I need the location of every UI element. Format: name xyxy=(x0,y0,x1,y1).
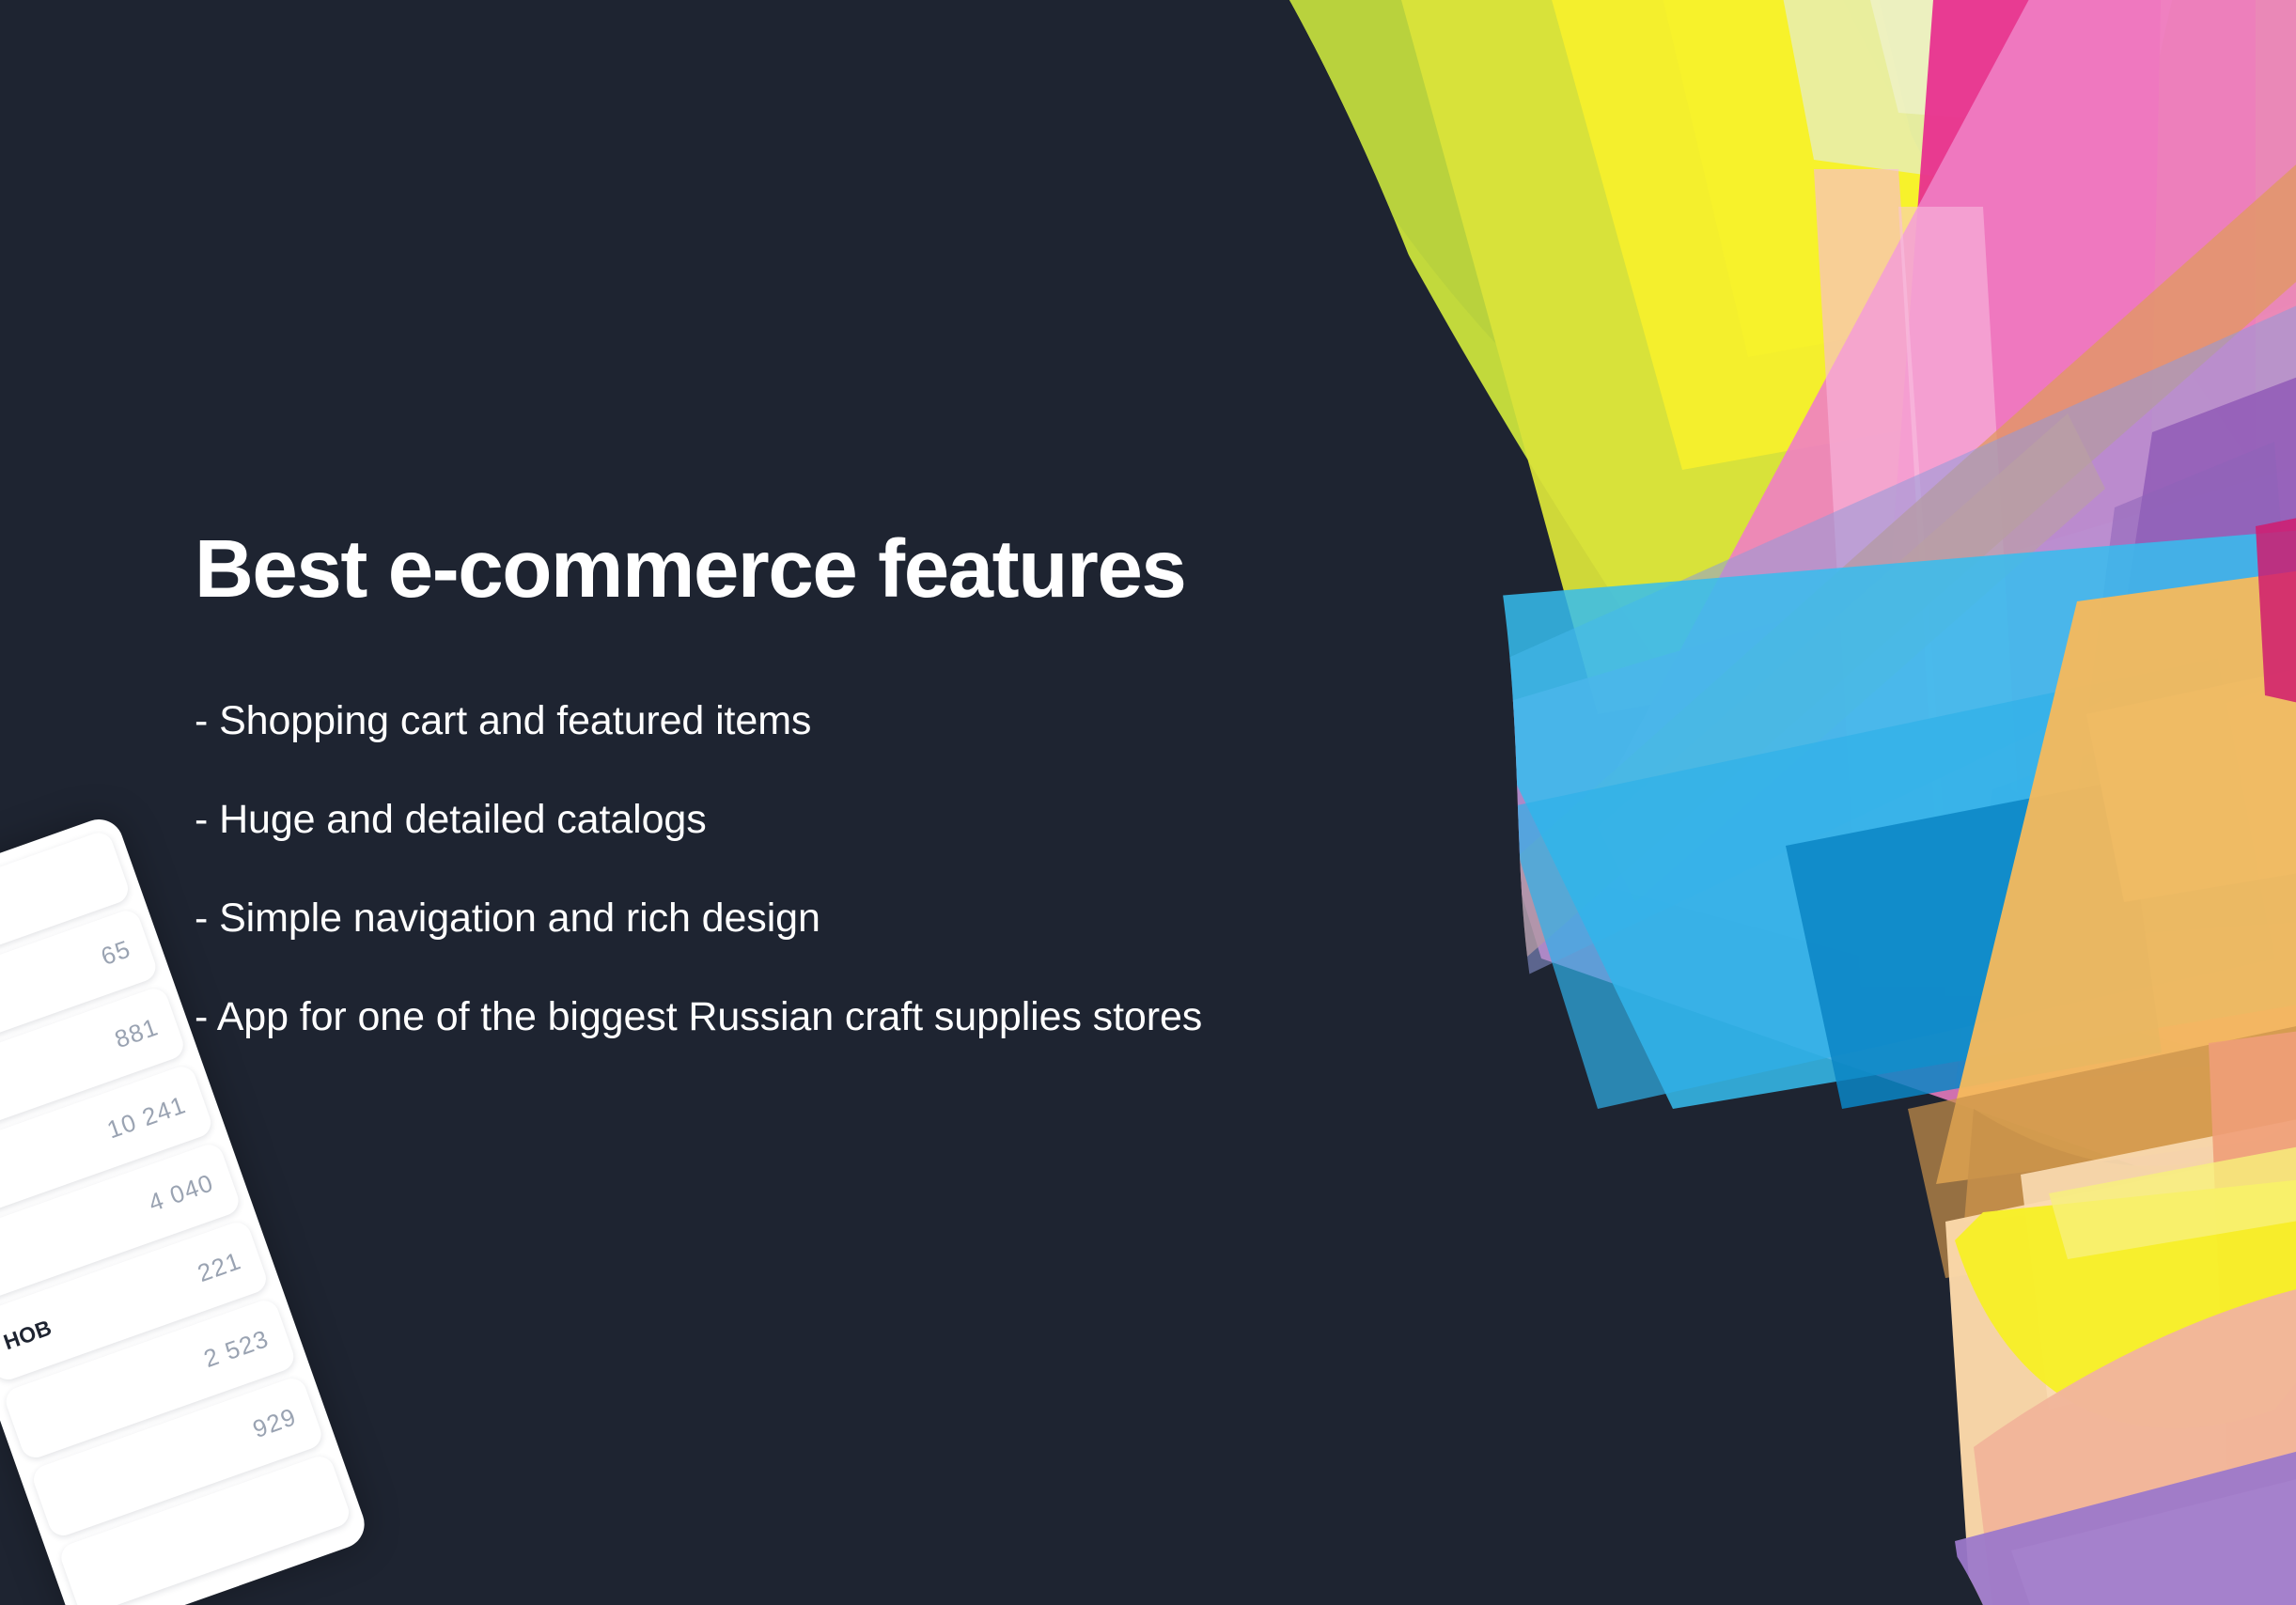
list-item-tag: НОВ xyxy=(0,1315,55,1355)
shape-yellow-wedge xyxy=(1541,0,2049,470)
shape-yellowgreen-band xyxy=(1391,0,2296,714)
slide-root: 65 881 10 241 4 040 НОВ 221 2 523 929 xyxy=(0,0,2296,1605)
shape-yellow-bottom-hi xyxy=(2049,1137,2296,1259)
shape-violet-band xyxy=(1955,658,2296,1090)
list-item-number: 2 523 xyxy=(200,1324,273,1374)
shape-periwinkle-band xyxy=(1466,282,2296,977)
shape-deepblue xyxy=(1786,780,2162,1109)
shape-yellow-wedge-2 xyxy=(1654,0,1955,357)
shape-magenta-accent xyxy=(2256,507,2296,714)
shape-purple-wedge-2 xyxy=(2058,442,2296,940)
list-item-number: 4 040 xyxy=(145,1168,217,1218)
bullet-item-3: - Simple navigation and rich design xyxy=(195,892,1322,945)
shape-magenta-core xyxy=(1880,0,2162,827)
shape-lime-arc xyxy=(1241,0,2296,526)
artwork-shapes xyxy=(1241,0,2296,1605)
shape-yellow-bottom xyxy=(1955,1175,2296,1428)
list-item-number: 221 xyxy=(194,1246,245,1288)
shape-purple-bottom xyxy=(1955,1438,2296,1605)
shape-pink-field-2 xyxy=(1466,451,2296,1240)
shape-magenta-core-2 xyxy=(2011,0,2256,921)
shape-purple-bottom-2 xyxy=(2011,1466,2296,1605)
list-item-number: 929 xyxy=(249,1402,301,1444)
shape-orange-diagonal-2 xyxy=(1598,413,2105,902)
shape-salmonpeach-wedge xyxy=(1974,1278,2296,1605)
shape-lime-base xyxy=(1259,0,2296,658)
shape-peach-field xyxy=(1945,1137,2296,1605)
shape-purple-wedge xyxy=(2077,357,2296,921)
shape-peach-field-2 xyxy=(2021,1109,2296,1410)
bullet-item-2: - Huge and detailed catalogs xyxy=(195,793,1322,847)
shape-salmon-block xyxy=(2209,1024,2296,1485)
shape-lightpink-streak xyxy=(1814,169,1955,987)
shape-tan-diagonal xyxy=(1466,150,2296,977)
shape-lightblue-top xyxy=(2086,658,2296,902)
list-item-number: 65 xyxy=(97,934,134,972)
shape-cyan-band xyxy=(1504,658,2274,1109)
page-title: Best e-commerce features xyxy=(195,526,1322,612)
shape-tan-band xyxy=(1908,1015,2296,1278)
bullet-item-4: - App for one of the biggest Russian cra… xyxy=(195,990,1247,1044)
shape-lightpink-streak-2 xyxy=(1898,207,2030,996)
shape-cream-highlight-2 xyxy=(1861,0,2180,132)
list-item-number: 10 241 xyxy=(103,1090,190,1145)
shape-pink-field xyxy=(1560,0,2296,1090)
shape-skyblue xyxy=(1429,526,2296,1109)
shape-cream-highlight xyxy=(1776,0,2049,188)
shape-orange-field xyxy=(1936,564,2296,1184)
list-item-number: 881 xyxy=(111,1012,163,1054)
bullet-item-1: - Shopping cart and featured items xyxy=(195,694,1322,748)
shape-orange-curve xyxy=(1964,1071,2296,1222)
slide-content: Best e-commerce features - Shopping cart… xyxy=(195,526,1322,1043)
